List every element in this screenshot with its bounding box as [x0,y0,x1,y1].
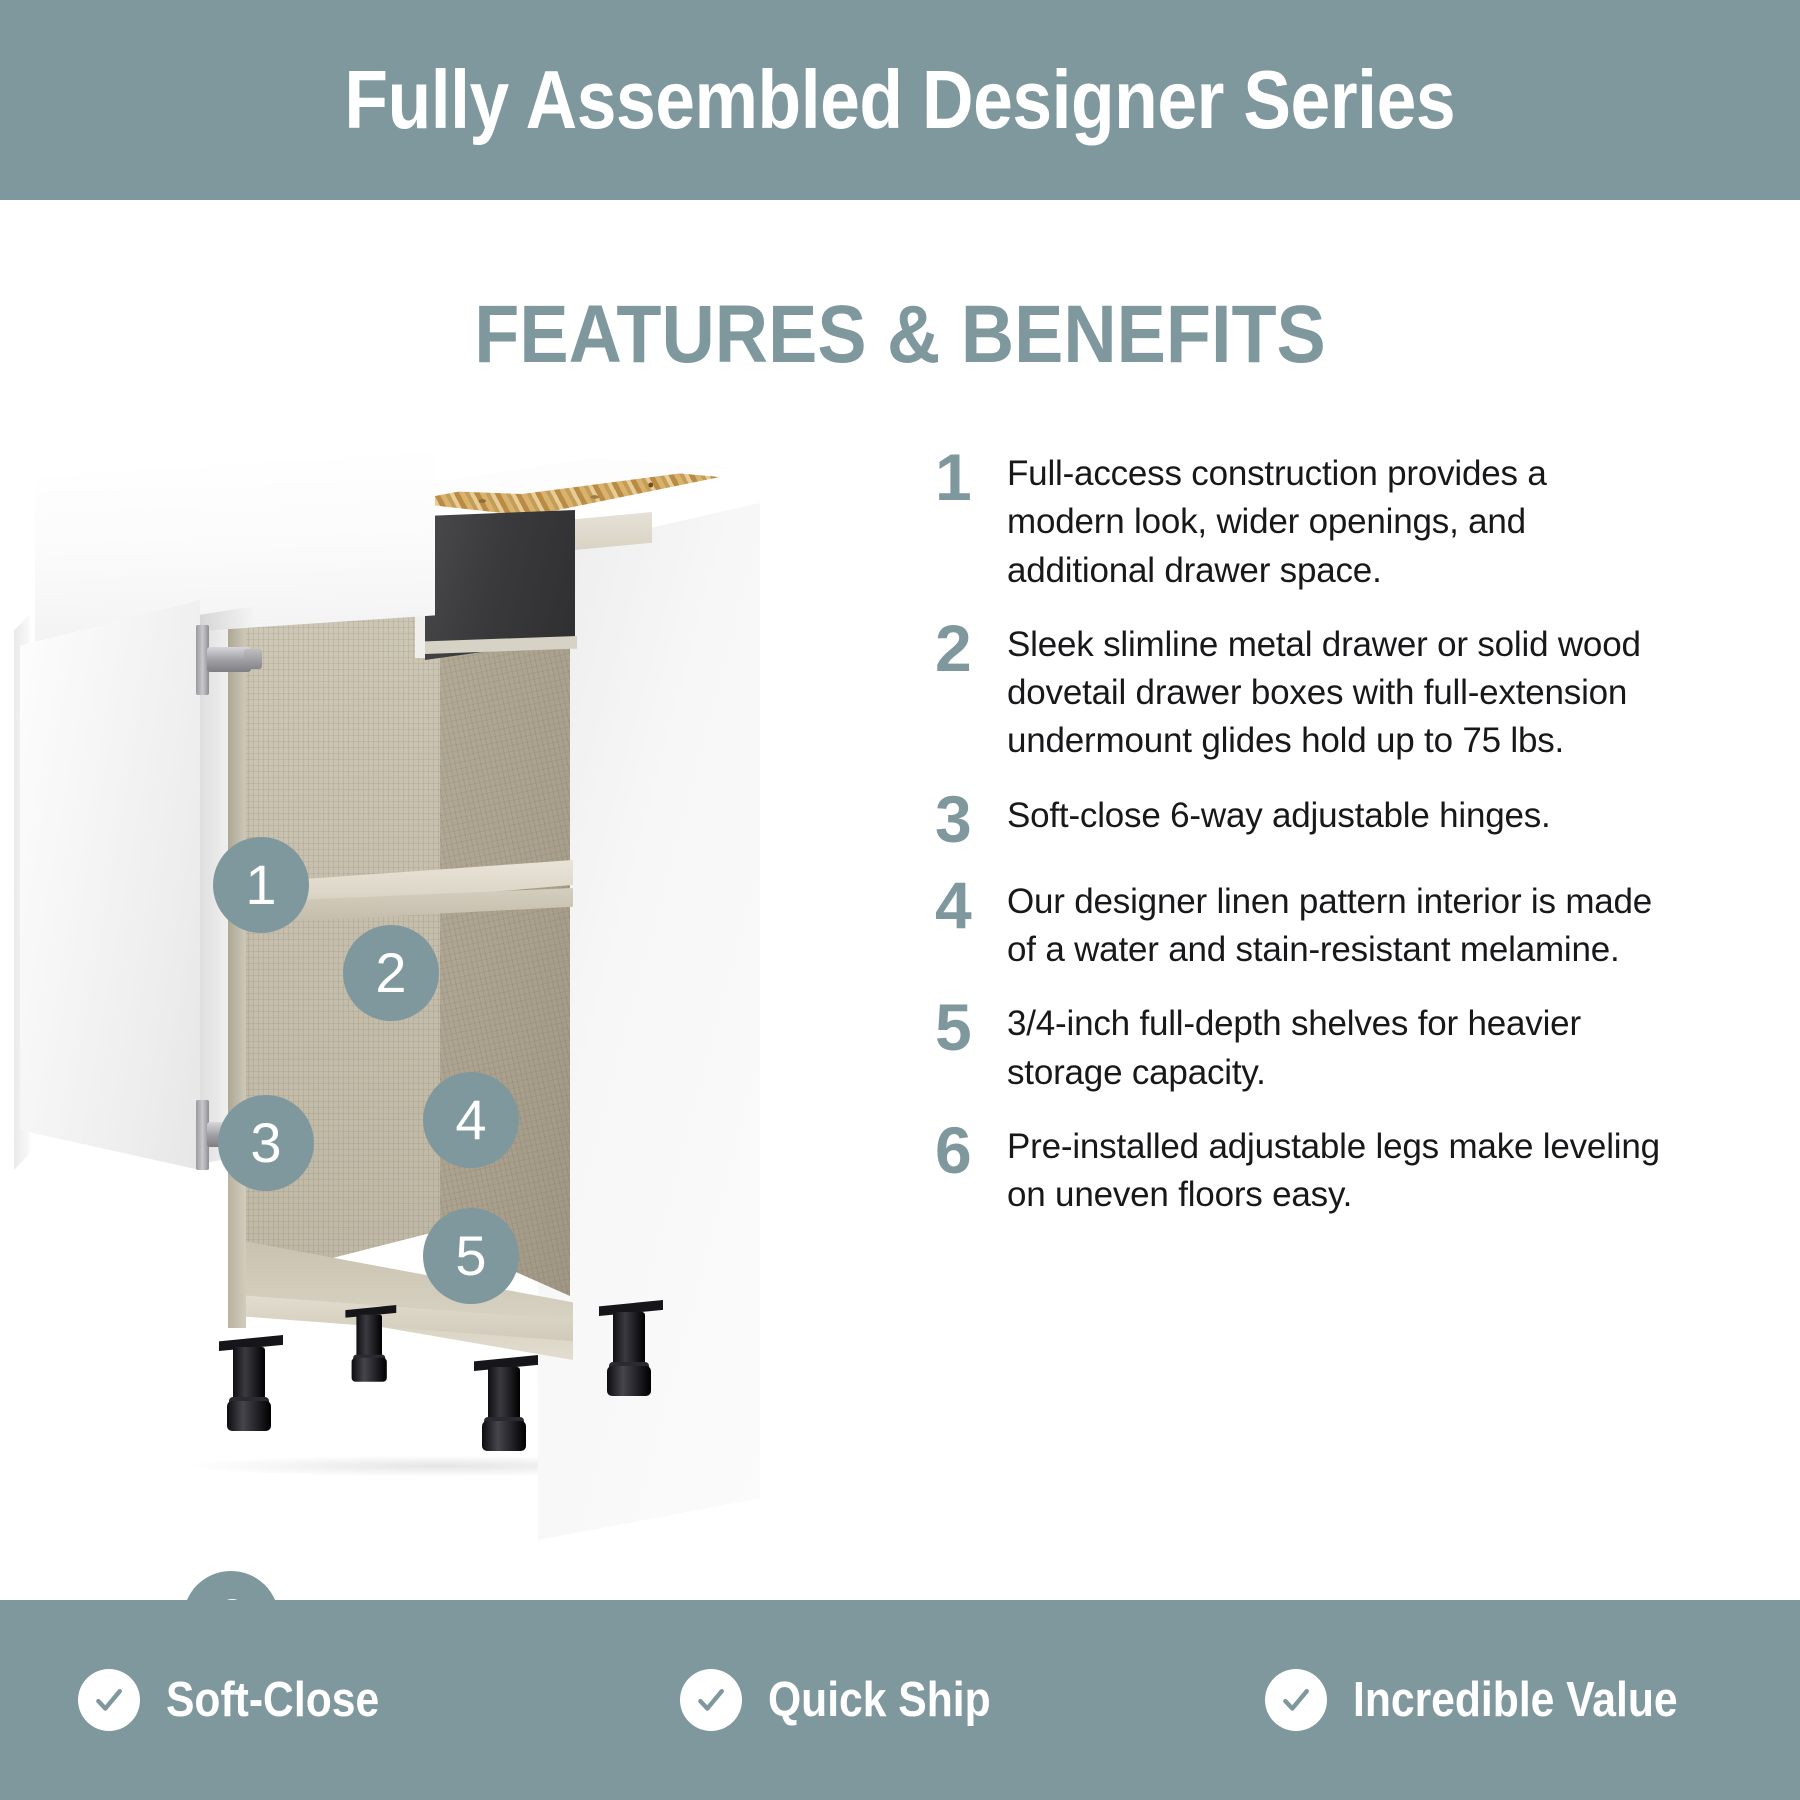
feature-text-6: Pre-installed adjustable legs make level… [1007,1123,1667,1220]
feature-text-3: Soft-close 6-way adjustable hinges. [1007,792,1551,840]
feature-item-3: 3 Soft-close 6-way adjustable hinges. [935,792,1675,852]
hinge-cup [244,649,262,669]
feature-number-4: 4 [935,872,1007,938]
cabinet-illustration: 1 2 3 4 5 6 [0,400,830,1400]
leg-foot [352,1358,387,1382]
feature-item-1: 1 Full-access construction provides a mo… [935,450,1675,595]
features-list: 1 Full-access construction provides a mo… [935,450,1675,1246]
content-area: 1 2 3 4 5 6 1 Full-access construction p… [0,400,1800,1600]
callout-badge-4[interactable]: 4 [423,1072,519,1168]
feature-item-5: 5 3/4-inch full-depth shelves for heavie… [935,1000,1675,1097]
feature-text-5: 3/4-inch full-depth shelves for heavier … [1007,1000,1667,1097]
feature-text-1: Full-access construction provides a mode… [1007,450,1667,595]
page-title: Fully Assembled Designer Series [345,52,1456,148]
footer-badge-quick-ship: Quick Ship [680,1669,1024,1731]
check-circle-icon [680,1669,742,1731]
footer-badge-incredible-value: Incredible Value [1265,1669,1726,1731]
callout-badge-5[interactable]: 5 [423,1208,519,1304]
check-circle-icon [78,1669,140,1731]
feature-number-3: 3 [935,786,1007,852]
footer-badge-soft-close: Soft-Close [78,1669,411,1731]
section-title: FEATURES & BENEFITS [474,288,1325,382]
check-circle-icon [1265,1669,1327,1731]
section-title-container: FEATURES & BENEFITS [0,200,1800,382]
footer-badge-label-3: Incredible Value [1353,1672,1678,1728]
callout-badge-3[interactable]: 3 [218,1095,314,1191]
feature-number-6: 6 [935,1117,1007,1183]
leg-foot [607,1366,651,1396]
leg-foot [227,1401,271,1431]
cabinet-interior-right-wall [440,576,570,1296]
footer-badge-label-1: Soft-Close [166,1672,379,1728]
feature-item-2: 2 Sleek slimline metal drawer or solid w… [935,621,1675,766]
cabinet-door-panel [20,600,200,1170]
callout-badge-2[interactable]: 2 [343,925,439,1021]
page-header: Fully Assembled Designer Series [0,0,1800,200]
feature-text-4: Our designer linen pattern interior is m… [1007,878,1667,975]
leg-foot [482,1421,526,1451]
footer-badge-label-2: Quick Ship [768,1672,991,1728]
feature-number-1: 1 [935,444,1007,510]
feature-item-6: 6 Pre-installed adjustable legs make lev… [935,1123,1675,1220]
feature-text-2: Sleek slimline metal drawer or solid woo… [1007,621,1667,766]
callout-badge-1[interactable]: 1 [213,837,309,933]
feature-number-2: 2 [935,615,1007,681]
feature-number-5: 5 [935,994,1007,1060]
page-footer: Soft-Close Quick Ship Incredible Value [0,1600,1800,1800]
feature-item-4: 4 Our designer linen pattern interior is… [935,878,1675,975]
